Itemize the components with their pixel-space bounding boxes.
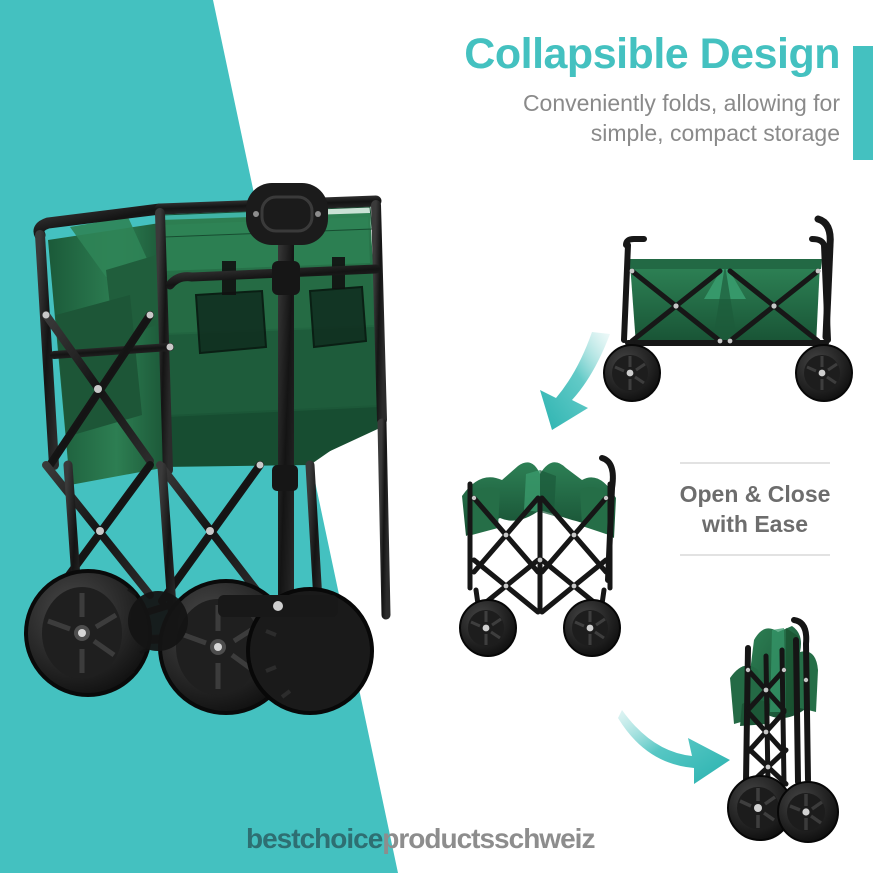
arrow-open-to-half-icon — [498, 318, 618, 438]
header-block: Collapsible Design Conveniently folds, a… — [380, 32, 840, 148]
page-subtitle: Conveniently folds, allowing for simple,… — [380, 88, 840, 149]
brand-part-1: bestchoice — [246, 823, 382, 854]
footer-brand-logo: bestchoiceproductsschweiz — [246, 823, 594, 855]
header-accent-bar — [853, 46, 873, 160]
product-feature-graphic: Collapsible Design Conveniently folds, a… — [0, 0, 873, 873]
hero-wagon-image — [10, 165, 410, 725]
caption-rule-bottom — [680, 554, 830, 556]
caption-line-1: Open & Close — [655, 480, 855, 510]
brand-part-2: productsschweiz — [382, 823, 594, 854]
page-title: Collapsible Design — [380, 32, 840, 78]
caption-rule-top — [680, 462, 830, 464]
open-close-caption: Open & Close with Ease — [655, 462, 855, 556]
wagon-half-folded-image — [440, 440, 640, 660]
subtitle-line-1: Conveniently folds, allowing for — [380, 88, 840, 118]
subtitle-line-2: simple, compact storage — [380, 118, 840, 148]
wagon-collapsed-image — [700, 600, 870, 850]
caption-text: Open & Close with Ease — [655, 480, 855, 540]
hero-wheels — [26, 571, 372, 713]
caption-line-2: with Ease — [655, 510, 855, 540]
wagon-open-image — [588, 205, 868, 405]
